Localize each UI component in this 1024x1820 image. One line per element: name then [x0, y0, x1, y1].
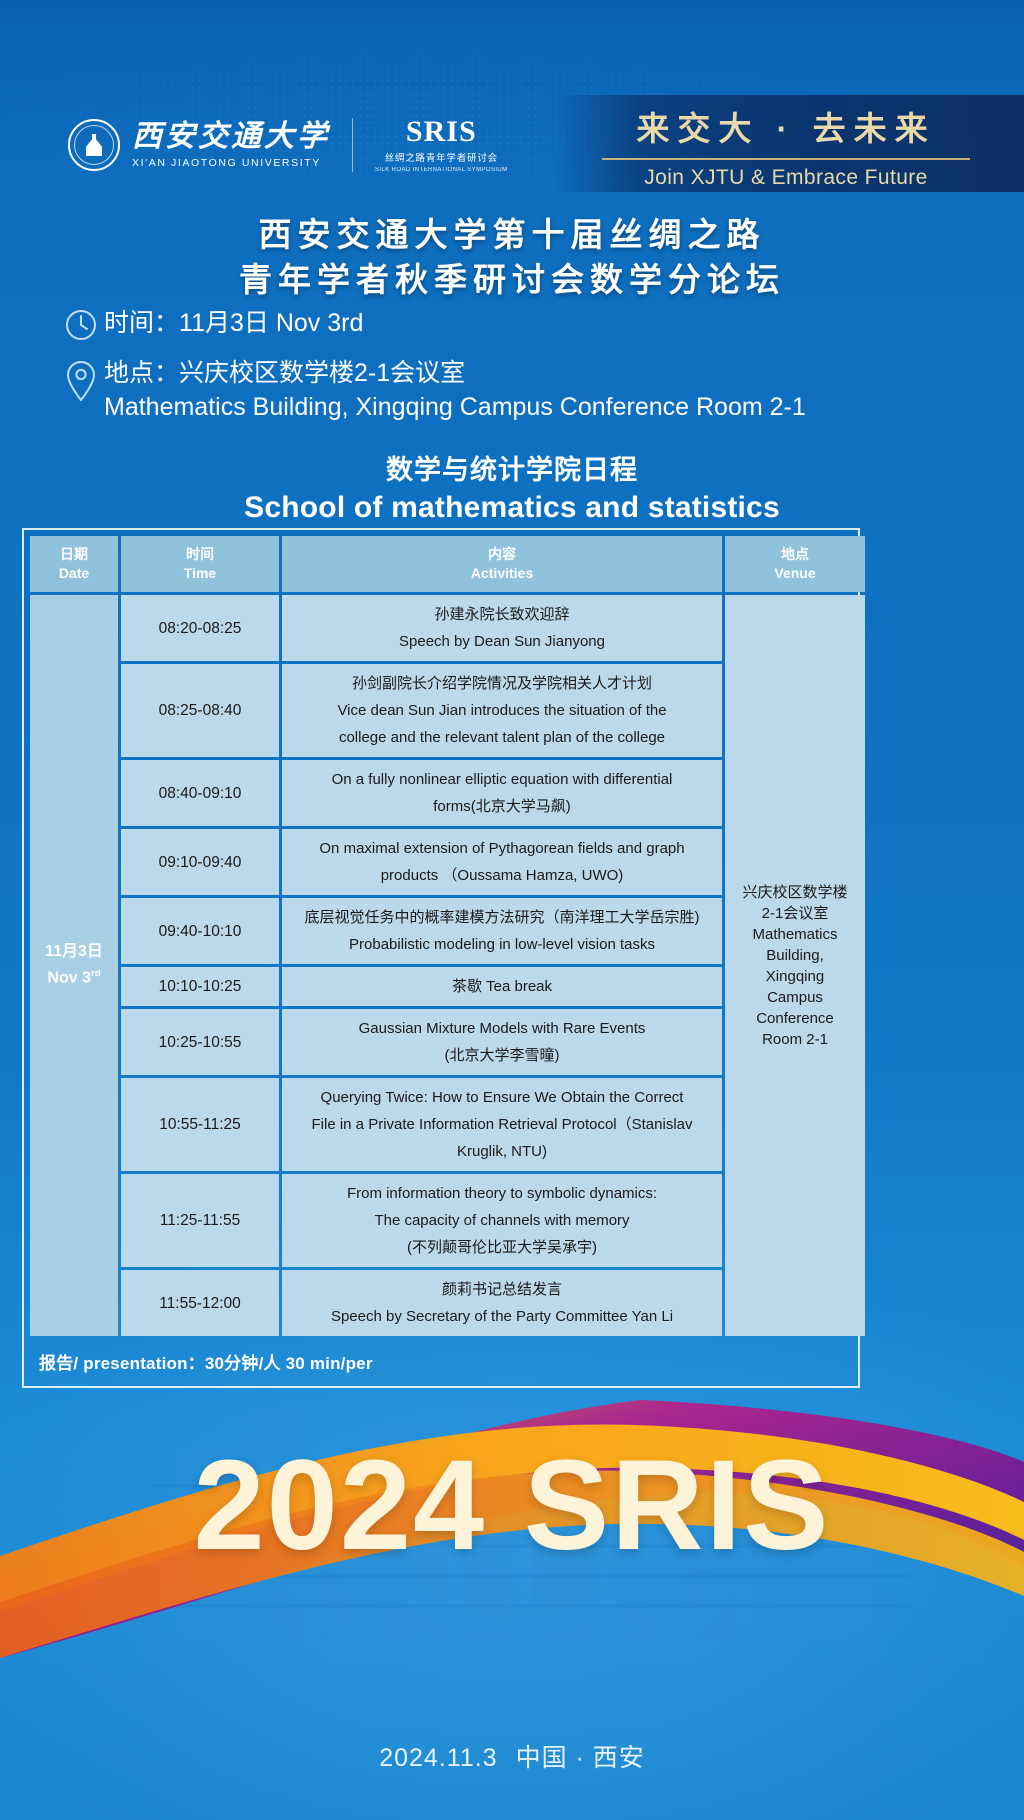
schedule-heading: 数学与统计学院日程 School of mathematics and stat… — [0, 448, 1024, 525]
activity-line: Speech by Dean Sun Jianyong — [288, 628, 716, 655]
activity-line: products （Oussama Hamza, UWO) — [288, 862, 716, 889]
sris-subtitle-en: SILK ROAD INTERNATIONAL SYMPOSIUM — [375, 167, 508, 173]
sris-logo: SRIS 丝绸之路青年学者研讨会 SILK ROAD INTERNATIONAL… — [375, 117, 508, 173]
schedule-table-wrapper: 日期 Date 时间 Time 内容 Activities 地点 Venue — [22, 528, 860, 1388]
event-time-text: 时间：11月3日 Nov 3rd — [104, 306, 363, 340]
column-header-date-cn: 日期 — [32, 545, 116, 564]
cell-activity: 孙剑副院长介绍学院情况及学院相关人才计划Vice dean Sun Jian i… — [282, 664, 722, 757]
cell-time: 11:25-11:55 — [121, 1174, 279, 1267]
column-header-activities: 内容 Activities — [282, 536, 722, 592]
cell-activity: 孙建永院长致欢迎辞Speech by Dean Sun Jianyong — [282, 595, 722, 661]
activity-line: (不列颠哥伦比亚大学吴承宇) — [288, 1234, 716, 1261]
activity-line: Kruglik, NTU) — [288, 1138, 716, 1165]
clock-icon — [58, 306, 104, 342]
table-header-row: 日期 Date 时间 Time 内容 Activities 地点 Venue — [30, 536, 865, 592]
activity-line: From information theory to symbolic dyna… — [288, 1180, 716, 1207]
activity-line: Probabilistic modeling in low-level visi… — [288, 931, 716, 958]
cell-activity: Gaussian Mixture Models with Rare Events… — [282, 1009, 722, 1075]
cell-activity: 茶歇 Tea break — [282, 967, 722, 1006]
cell-time: 08:20-08:25 — [121, 595, 279, 661]
column-header-venue-en: Venue — [727, 564, 863, 583]
column-header-time-cn: 时间 — [123, 545, 277, 564]
activity-line: File in a Private Information Retrieval … — [288, 1111, 716, 1138]
xjtu-logo: 西安交通大学 XI'AN JIAOTONG UNIVERSITY SRIS 丝绸… — [68, 117, 508, 173]
cell-time: 10:55-11:25 — [121, 1078, 279, 1171]
venue-line: Conference — [731, 1008, 859, 1029]
cell-date-en-suffix: rd — [91, 968, 101, 979]
slogan-rule — [602, 158, 970, 160]
activity-line: 底层视觉任务中的概率建模方法研究（南洋理工大学岳宗胜) — [288, 904, 716, 931]
university-name: 西安交通大学 XI'AN JIAOTONG UNIVERSITY — [132, 122, 330, 169]
activity-line: (北京大学李雪曈) — [288, 1042, 716, 1069]
poster-title-line1: 西安交通大学第十届丝绸之路 — [0, 212, 1024, 257]
activity-line: college and the relevant talent plan of … — [288, 724, 716, 751]
activity-line: On a fully nonlinear elliptic equation w… — [288, 766, 716, 793]
cell-activity: 颜莉书记总结发言Speech by Secretary of the Party… — [282, 1270, 722, 1336]
event-place-en: Mathematics Building, Xingqing Campus Co… — [104, 390, 806, 424]
schedule-heading-cn: 数学与统计学院日程 — [0, 448, 1024, 487]
cell-date: 11月3日Nov 3rd — [30, 595, 118, 1336]
activity-line: Gaussian Mixture Models with Rare Events — [288, 1015, 716, 1042]
cell-time: 11:55-12:00 — [121, 1270, 279, 1336]
venue-line: Room 2-1 — [731, 1029, 859, 1050]
university-seal-icon — [68, 119, 120, 171]
university-name-en: XI'AN JIAOTONG UNIVERSITY — [132, 158, 330, 169]
location-pin-icon — [58, 356, 104, 404]
cell-date-en: Nov 3rd — [36, 963, 112, 989]
event-place-row: 地点：兴庆校区数学楼2-1会议室 Mathematics Building, X… — [58, 356, 998, 424]
event-place-cn: 兴庆校区数学楼2-1会议室 — [179, 359, 465, 387]
cell-date-cn: 11月3日 — [36, 941, 112, 963]
poster-title: 西安交通大学第十届丝绸之路 青年学者秋季研讨会数学分论坛 — [0, 212, 1024, 302]
schedule-heading-en: School of mathematics and statistics — [0, 491, 1024, 525]
event-time-label: 时间： — [104, 309, 179, 337]
sris-year-wordmark: 2024 SRIS — [0, 1442, 1024, 1570]
column-header-date: 日期 Date — [30, 536, 118, 592]
schedule-table-body: 11月3日Nov 3rd08:20-08:25孙建永院长致欢迎辞Speech b… — [30, 595, 865, 1336]
cell-time: 08:25-08:40 — [121, 664, 279, 757]
cell-activity: 底层视觉任务中的概率建模方法研究（南洋理工大学岳宗胜)Probabilistic… — [282, 898, 722, 964]
cell-venue: 兴庆校区数学楼2-1会议室MathematicsBuilding,Xingqin… — [725, 595, 865, 1336]
seal-core-shape — [86, 134, 102, 156]
cell-time: 09:10-09:40 — [121, 829, 279, 895]
event-meta: 时间：11月3日 Nov 3rd 地点：兴庆校区数学楼2-1会议室 Mathem… — [58, 306, 998, 438]
slogan-cn: 来交大 · 去未来 — [596, 102, 976, 150]
venue-line: 2-1会议室 — [731, 903, 859, 924]
activity-line: 茶歇 Tea break — [288, 973, 716, 1000]
schedule-table: 日期 Date 时间 Time 内容 Activities 地点 Venue — [27, 533, 868, 1339]
slogan-block: 来交大 · 去未来 Join XJTU & Embrace Future — [596, 102, 976, 190]
column-header-venue: 地点 Venue — [725, 536, 865, 592]
activity-line: Speech by Secretary of the Party Committ… — [288, 1303, 716, 1330]
activity-line: 孙建永院长致欢迎辞 — [288, 601, 716, 628]
cell-activity: On maximal extension of Pythagorean fiel… — [282, 829, 722, 895]
activity-line: Vice dean Sun Jian introduces the situat… — [288, 697, 716, 724]
footer-date: 2024.11.3 — [379, 1744, 497, 1772]
presentation-note: 报告/ presentation：30分钟/人 30 min/per — [27, 1342, 855, 1383]
sris-subtitle-cn: 丝绸之路青年学者研讨会 — [375, 154, 508, 164]
event-time-row: 时间：11月3日 Nov 3rd — [58, 306, 998, 342]
sris-wordmark: SRIS — [375, 117, 508, 147]
activity-line: 孙剑副院长介绍学院情况及学院相关人才计划 — [288, 670, 716, 697]
venue-line: 兴庆校区数学楼 — [731, 882, 859, 903]
column-header-venue-cn: 地点 — [727, 545, 863, 564]
event-time-value: 11月3日 Nov 3rd — [179, 309, 363, 337]
venue-line: Mathematics — [731, 924, 859, 945]
poster-footer: 2024.11.3中国 · 西安 — [0, 1738, 1024, 1774]
cell-time: 08:40-09:10 — [121, 760, 279, 826]
slogan-en: Join XJTU & Embrace Future — [596, 166, 976, 190]
cell-time: 10:25-10:55 — [121, 1009, 279, 1075]
venue-line: Xingqing — [731, 966, 859, 987]
poster-root: 西安交通大学 XI'AN JIAOTONG UNIVERSITY SRIS 丝绸… — [0, 0, 1024, 1820]
venue-line: Campus — [731, 987, 859, 1008]
column-header-activities-cn: 内容 — [284, 545, 720, 564]
cell-activity: Querying Twice: How to Ensure We Obtain … — [282, 1078, 722, 1171]
column-header-date-en: Date — [32, 564, 116, 583]
university-name-cn: 西安交通大学 — [132, 122, 330, 152]
cell-activity: On a fully nonlinear elliptic equation w… — [282, 760, 722, 826]
cell-activity: From information theory to symbolic dyna… — [282, 1174, 722, 1267]
logo-divider — [352, 118, 353, 172]
activity-line: 颜莉书记总结发言 — [288, 1276, 716, 1303]
cell-time: 10:10-10:25 — [121, 967, 279, 1006]
event-place-label: 地点： — [104, 359, 179, 387]
activity-line: forms(北京大学马飙) — [288, 793, 716, 820]
column-header-time-en: Time — [123, 564, 277, 583]
table-row: 11月3日Nov 3rd08:20-08:25孙建永院长致欢迎辞Speech b… — [30, 595, 865, 661]
event-place-text: 地点：兴庆校区数学楼2-1会议室 Mathematics Building, X… — [104, 356, 806, 424]
activity-line: On maximal extension of Pythagorean fiel… — [288, 835, 716, 862]
column-header-time: 时间 Time — [121, 536, 279, 592]
activity-line: The capacity of channels with memory — [288, 1207, 716, 1234]
cell-time: 09:40-10:10 — [121, 898, 279, 964]
venue-line: Building, — [731, 945, 859, 966]
footer-place: 中国 · 西安 — [516, 1744, 645, 1772]
column-header-activities-en: Activities — [284, 564, 720, 583]
poster-title-line2: 青年学者秋季研讨会数学分论坛 — [0, 257, 1024, 302]
activity-line: Querying Twice: How to Ensure We Obtain … — [288, 1084, 716, 1111]
